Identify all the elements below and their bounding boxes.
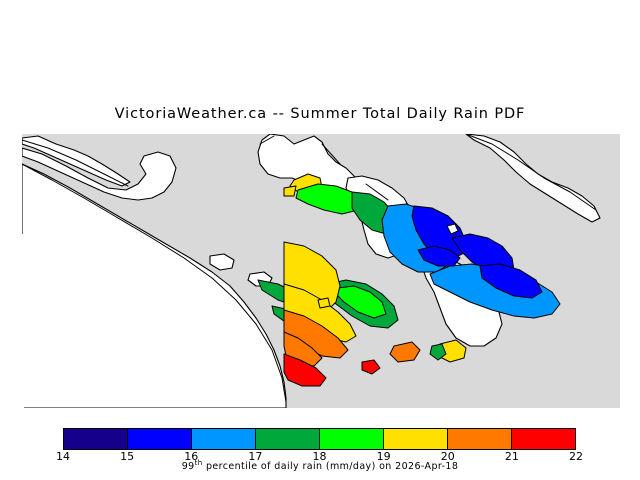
colorbar-caption: 99th percentile of daily rain (mm/day) o… [0,459,640,472]
colorbar-band-20-21 [448,429,512,449]
colorbar-bands [63,428,576,450]
caption-ordinal-suffix: th [195,459,203,467]
map-plot-area [22,134,620,408]
precip-region-yellow-notch [318,298,330,308]
caption-percentile-number: 99 [182,461,195,472]
map-left-white-margin [22,234,24,408]
colorbar [63,428,576,450]
precip-region-north-yellow-tri [284,186,296,196]
colorbar-band-21-22 [512,429,575,449]
map-svg [22,134,620,408]
colorbar-band-14-15 [64,429,128,449]
colorbar-band-18-19 [320,429,384,449]
page-title: VictoriaWeather.ca -- Summer Total Daily… [0,106,640,122]
caption-text: percentile of daily rain (mm/day) on 202… [203,461,459,472]
colorbar-band-16-17 [192,429,256,449]
weather-map-page: VictoriaWeather.ca -- Summer Total Daily… [0,0,640,480]
colorbar-band-17-18 [256,429,320,449]
colorbar-band-15-16 [128,429,192,449]
colorbar-band-19-20 [384,429,448,449]
